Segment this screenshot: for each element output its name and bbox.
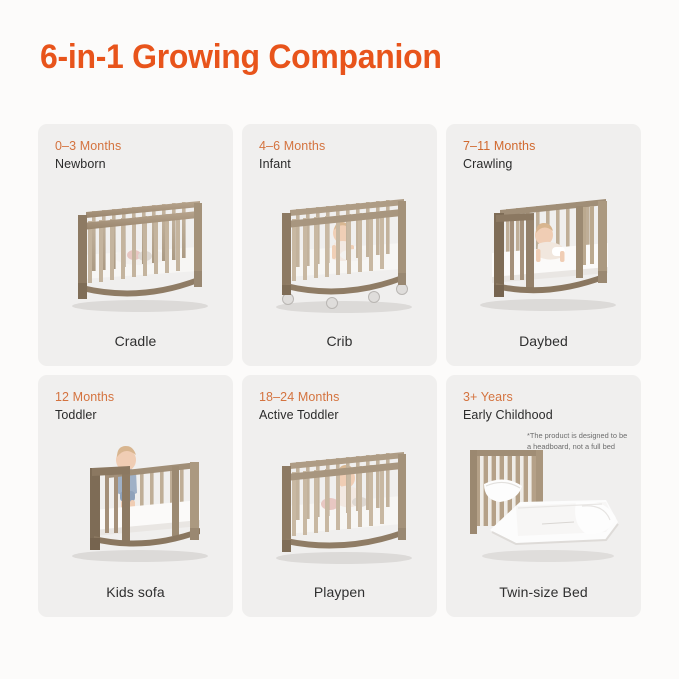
card-stage-label: Newborn xyxy=(55,157,106,171)
stage-card-twin-bed[interactable]: 3+ Years Early Childhood *The product is… xyxy=(446,375,641,617)
cradle-illustration xyxy=(38,176,233,326)
card-caption: Twin-size Bed xyxy=(446,584,641,600)
stage-card-cradle[interactable]: 0–3 Months Newborn xyxy=(38,124,233,366)
twin-bed-illustration xyxy=(446,427,641,577)
card-age-label: 4–6 Months xyxy=(259,139,325,153)
stage-card-crib[interactable]: 4–6 Months Infant xyxy=(242,124,437,366)
playpen-illustration xyxy=(242,427,437,577)
card-age-label: 0–3 Months xyxy=(55,139,121,153)
stage-card-grid: 0–3 Months Newborn xyxy=(38,124,641,617)
card-age-label: 18–24 Months xyxy=(259,390,339,404)
crib-illustration xyxy=(242,176,437,326)
card-caption: Crib xyxy=(242,333,437,349)
card-age-label: 3+ Years xyxy=(463,390,513,404)
daybed-illustration xyxy=(446,176,641,326)
card-stage-label: Active Toddler xyxy=(259,408,339,422)
stage-card-daybed[interactable]: 7–11 Months Crawling xyxy=(446,124,641,366)
card-caption: Kids sofa xyxy=(38,584,233,600)
card-stage-label: Crawling xyxy=(463,157,512,171)
card-caption: Cradle xyxy=(38,333,233,349)
card-caption: Playpen xyxy=(242,584,437,600)
page-title: 6-in-1 Growing Companion xyxy=(40,38,442,77)
card-age-label: 12 Months xyxy=(55,390,114,404)
card-caption: Daybed xyxy=(446,333,641,349)
product-feature-page: 6-in-1 Growing Companion 0–3 Months Newb… xyxy=(0,0,679,679)
stage-card-kids-sofa[interactable]: 12 Months Toddler xyxy=(38,375,233,617)
card-stage-label: Toddler xyxy=(55,408,97,422)
card-age-label: 7–11 Months xyxy=(463,139,535,153)
stage-card-playpen[interactable]: 18–24 Months Active Toddler xyxy=(242,375,437,617)
card-stage-label: Early Childhood xyxy=(463,408,553,422)
kids-sofa-illustration xyxy=(38,427,233,577)
card-stage-label: Infant xyxy=(259,157,291,171)
